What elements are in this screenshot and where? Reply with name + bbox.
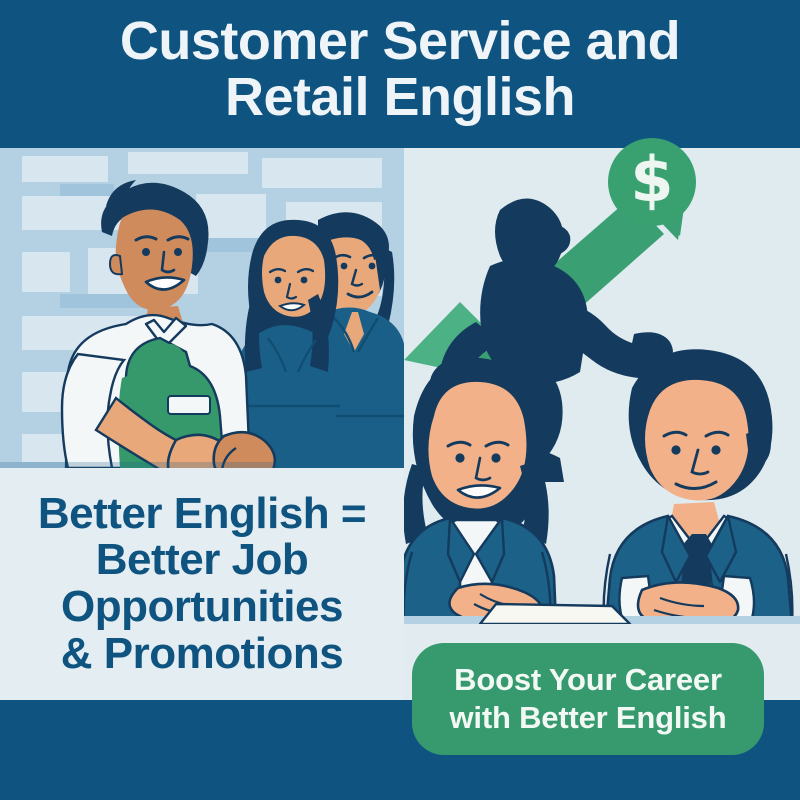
- poster-canvas: Customer Service and Retail English $ Be…: [0, 0, 800, 800]
- customer-woman-figure: [236, 220, 340, 468]
- name-badge: [168, 396, 210, 414]
- dollar-sign-glyph: $: [630, 149, 673, 211]
- left-illustration-panel: [0, 148, 404, 468]
- headline-text: Better English = Better Job Opportunitie…: [30, 491, 374, 678]
- businesswoman-figure: [404, 358, 556, 624]
- career-growth-artwork: [404, 148, 800, 624]
- headline-text-block: Better English = Better Job Opportunitie…: [0, 468, 404, 700]
- header-band: Customer Service and Retail English: [0, 0, 800, 148]
- document-sheet: [480, 604, 630, 624]
- cta-label: Boost Your Career with Better English: [450, 661, 727, 737]
- right-illustration-panel: [404, 148, 800, 624]
- dollar-coin-icon: $: [608, 138, 696, 226]
- retail-handshake-artwork: [0, 148, 404, 468]
- cta-badge[interactable]: Boost Your Career with Better English: [412, 643, 764, 755]
- page-title: Customer Service and Retail English: [0, 14, 800, 125]
